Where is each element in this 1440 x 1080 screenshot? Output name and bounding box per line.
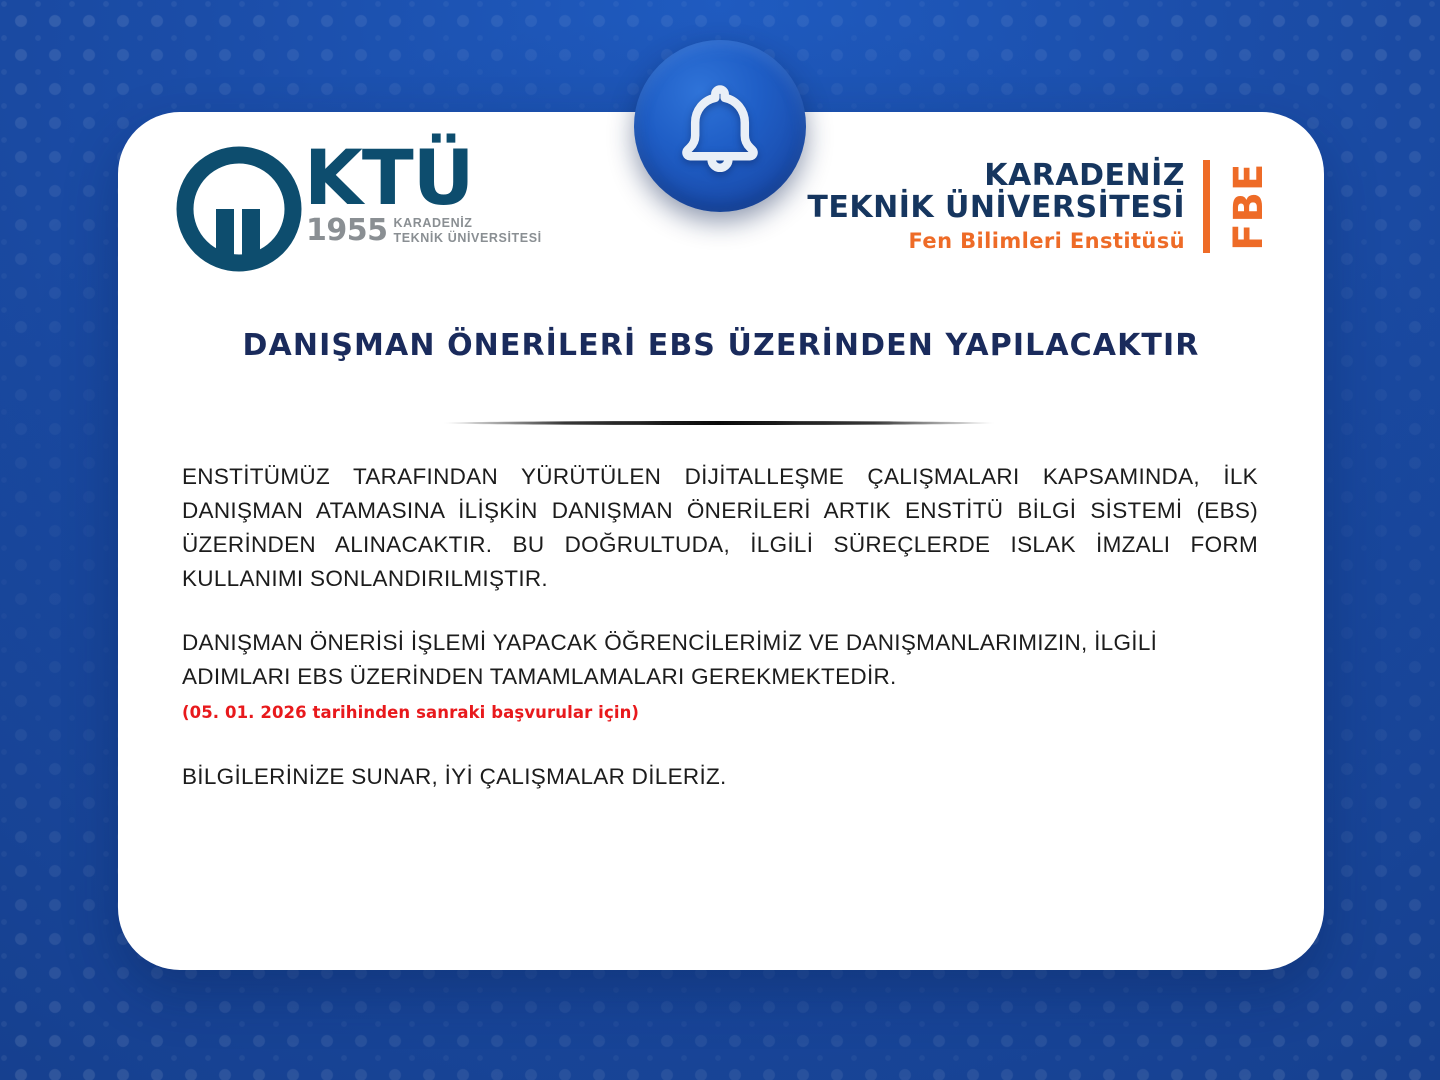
bell-icon (677, 80, 763, 172)
paragraph-2-note: (05. 01. 2026 tarihinden sanraki başvuru… (182, 703, 639, 722)
paragraph-3: BİLGİLERİNİZE SUNAR, İYİ ÇALIŞMALAR DİLE… (182, 760, 1258, 794)
ktu-sub-line-2: TEKNİK ÜNİVERSİTESİ (394, 231, 542, 245)
paragraph-2: DANIŞMAN ÖNERİSİ İŞLEMİ YAPACAK ÖĞRENCİL… (182, 626, 1258, 730)
fbe-line-1: KARADENİZ (807, 160, 1185, 192)
ktu-logo: KTÜ 1955 KARADENİZ TEKNİK ÜNİVERSİTESİ (176, 142, 542, 277)
announcement-poster: KTÜ 1955 KARADENİZ TEKNİK ÜNİVERSİTESİ K… (0, 0, 1440, 1080)
title-divider (443, 421, 995, 425)
paragraph-2-text: DANIŞMAN ÖNERİSİ İŞLEMİ YAPACAK ÖĞRENCİL… (182, 630, 1157, 689)
ktu-monogram-icon (176, 146, 302, 277)
paragraph-1: ENSTİTÜMÜZ TARAFINDAN YÜRÜTÜLEN DİJİTALL… (182, 460, 1258, 596)
notification-bell-badge (634, 40, 806, 212)
fbe-divider-bar (1203, 160, 1210, 253)
ktu-letters: KTÜ (304, 142, 542, 214)
fbe-abbreviation: FBE (1226, 160, 1272, 253)
ktu-founding-year: 1955 (306, 216, 388, 246)
ktu-wordmark: KTÜ 1955 KARADENİZ TEKNİK ÜNİVERSİTESİ (304, 142, 542, 246)
announcement-card: KTÜ 1955 KARADENİZ TEKNİK ÜNİVERSİTESİ K… (118, 112, 1324, 970)
fbe-line-3: Fen Bilimleri Enstitüsü (807, 229, 1185, 253)
ktu-sub-lines: KARADENİZ TEKNİK ÜNİVERSİTESİ (394, 216, 542, 245)
fbe-logo: KARADENİZ TEKNİK ÜNİVERSİTESİ Fen Biliml… (807, 160, 1272, 253)
page-title: DANIŞMAN ÖNERİLERİ EBS ÜZERİNDEN YAPILAC… (118, 328, 1324, 363)
ktu-sub-line-1: KARADENİZ (394, 216, 473, 230)
fbe-wordmark: KARADENİZ TEKNİK ÜNİVERSİTESİ Fen Biliml… (807, 160, 1203, 253)
ktu-sub: 1955 KARADENİZ TEKNİK ÜNİVERSİTESİ (306, 216, 542, 246)
announcement-body: ENSTİTÜMÜZ TARAFINDAN YÜRÜTÜLEN DİJİTALL… (182, 460, 1258, 794)
fbe-line-2: TEKNİK ÜNİVERSİTESİ (807, 192, 1185, 224)
